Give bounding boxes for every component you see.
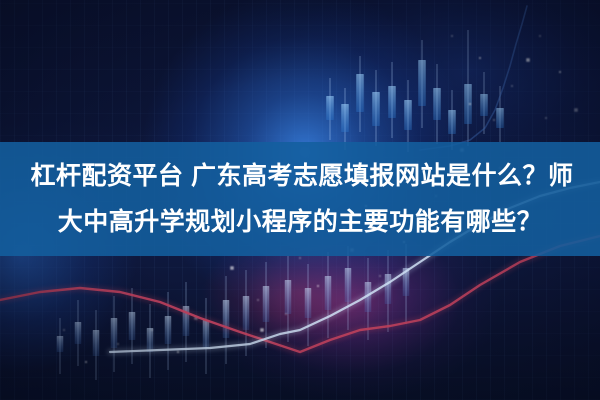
banner-image: 杠杆配资平台 广东高考志愿填报网站是什么？师 大中高升学规划小程序的主要功能有哪…	[0, 0, 600, 400]
headline-banner: 杠杆配资平台 广东高考志愿填报网站是什么？师 大中高升学规划小程序的主要功能有哪…	[0, 142, 600, 256]
candlestick-group-lower	[57, 244, 410, 380]
headline-line-1: 杠杆配资平台 广东高考志愿填报网站是什么？师	[27, 153, 574, 199]
headline-line-2: 大中高升学规划小程序的主要功能有哪些？	[58, 199, 543, 245]
